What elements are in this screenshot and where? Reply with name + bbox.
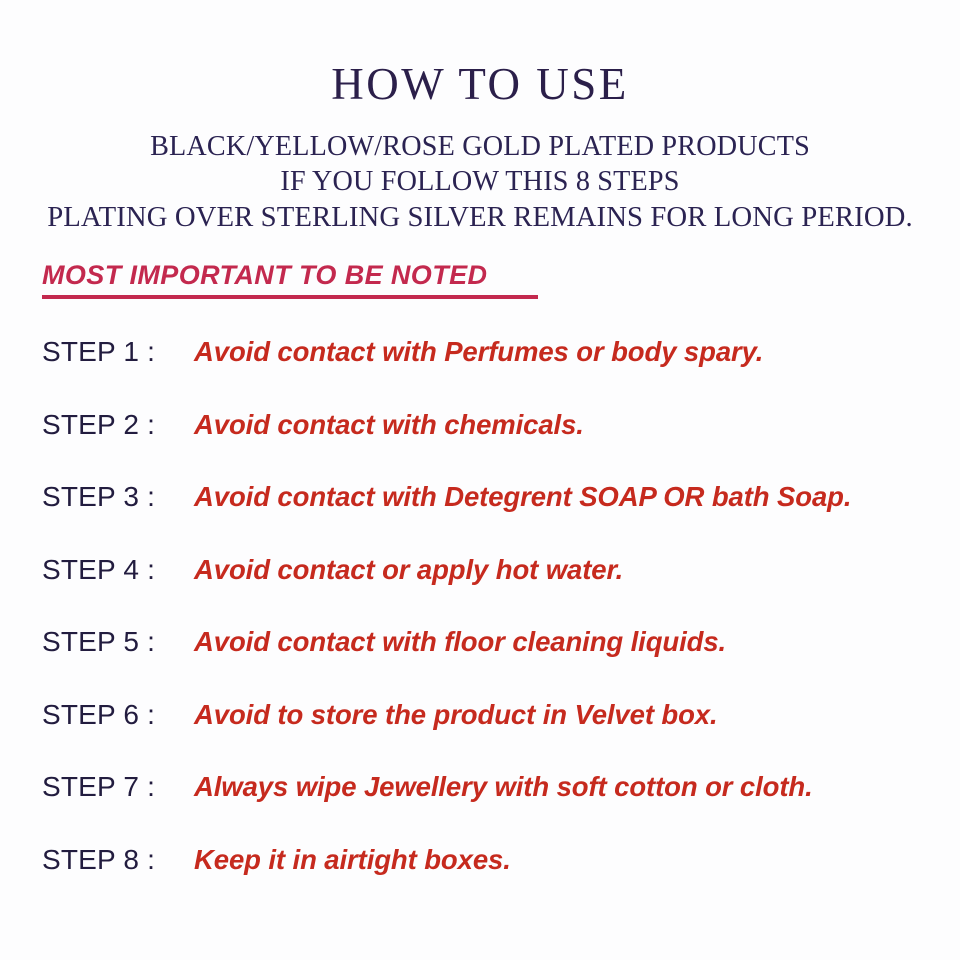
subtitle-line-3: PLATING OVER STERLING SILVER REMAINS FOR… <box>5 200 955 235</box>
step-row: STEP 6 : Avoid to store the product in V… <box>42 699 942 772</box>
step-row: STEP 2 : Avoid contact with chemicals. <box>42 409 942 482</box>
step-label: STEP 4 : <box>42 554 194 586</box>
subtitle-block: BLACK/YELLOW/ROSE GOLD PLATED PRODUCTS I… <box>0 129 960 235</box>
subtitle-line-1: BLACK/YELLOW/ROSE GOLD PLATED PRODUCTS <box>14 129 945 164</box>
step-row: STEP 7 : Always wipe Jewellery with soft… <box>42 771 942 844</box>
step-instruction: Avoid contact with floor cleaning liquid… <box>194 626 942 658</box>
step-instruction: Avoid contact with chemicals. <box>194 409 942 441</box>
subtitle-line-2: IF YOU FOLLOW THIS 8 STEPS <box>14 164 945 199</box>
step-instruction: Avoid contact with Perfumes or body spar… <box>194 336 942 368</box>
step-instruction: Avoid contact or apply hot water. <box>194 554 942 586</box>
step-label: STEP 8 : <box>42 844 194 876</box>
important-notice-label: MOST IMPORTANT TO BE NOTED <box>42 262 487 289</box>
notice-underline <box>42 295 538 299</box>
step-row: STEP 8 : Keep it in airtight boxes. <box>42 844 942 917</box>
step-instruction: Keep it in airtight boxes. <box>194 844 942 876</box>
step-instruction: Avoid to store the product in Velvet box… <box>194 699 942 731</box>
header-block: HOW TO USE BLACK/YELLOW/ROSE GOLD PLATED… <box>0 0 960 235</box>
step-row: STEP 5 : Avoid contact with floor cleani… <box>42 626 942 699</box>
step-label: STEP 1 : <box>42 336 194 368</box>
page-title: HOW TO USE <box>0 0 960 107</box>
step-row: STEP 1 : Avoid contact with Perfumes or … <box>42 336 942 409</box>
step-row: STEP 4 : Avoid contact or apply hot wate… <box>42 554 942 627</box>
step-label: STEP 2 : <box>42 409 194 441</box>
steps-list: STEP 1 : Avoid contact with Perfumes or … <box>42 336 942 916</box>
step-label: STEP 3 : <box>42 481 194 513</box>
step-instruction: Avoid contact with Detegrent SOAP OR bat… <box>194 481 942 513</box>
step-label: STEP 7 : <box>42 771 194 803</box>
care-instructions-page: HOW TO USE BLACK/YELLOW/ROSE GOLD PLATED… <box>0 0 960 960</box>
step-row: STEP 3 : Avoid contact with Detegrent SO… <box>42 481 942 554</box>
step-label: STEP 6 : <box>42 699 194 731</box>
step-instruction: Always wipe Jewellery with soft cotton o… <box>194 771 942 803</box>
step-label: STEP 5 : <box>42 626 194 658</box>
important-notice-heading: MOST IMPORTANT TO BE NOTED <box>42 262 538 299</box>
